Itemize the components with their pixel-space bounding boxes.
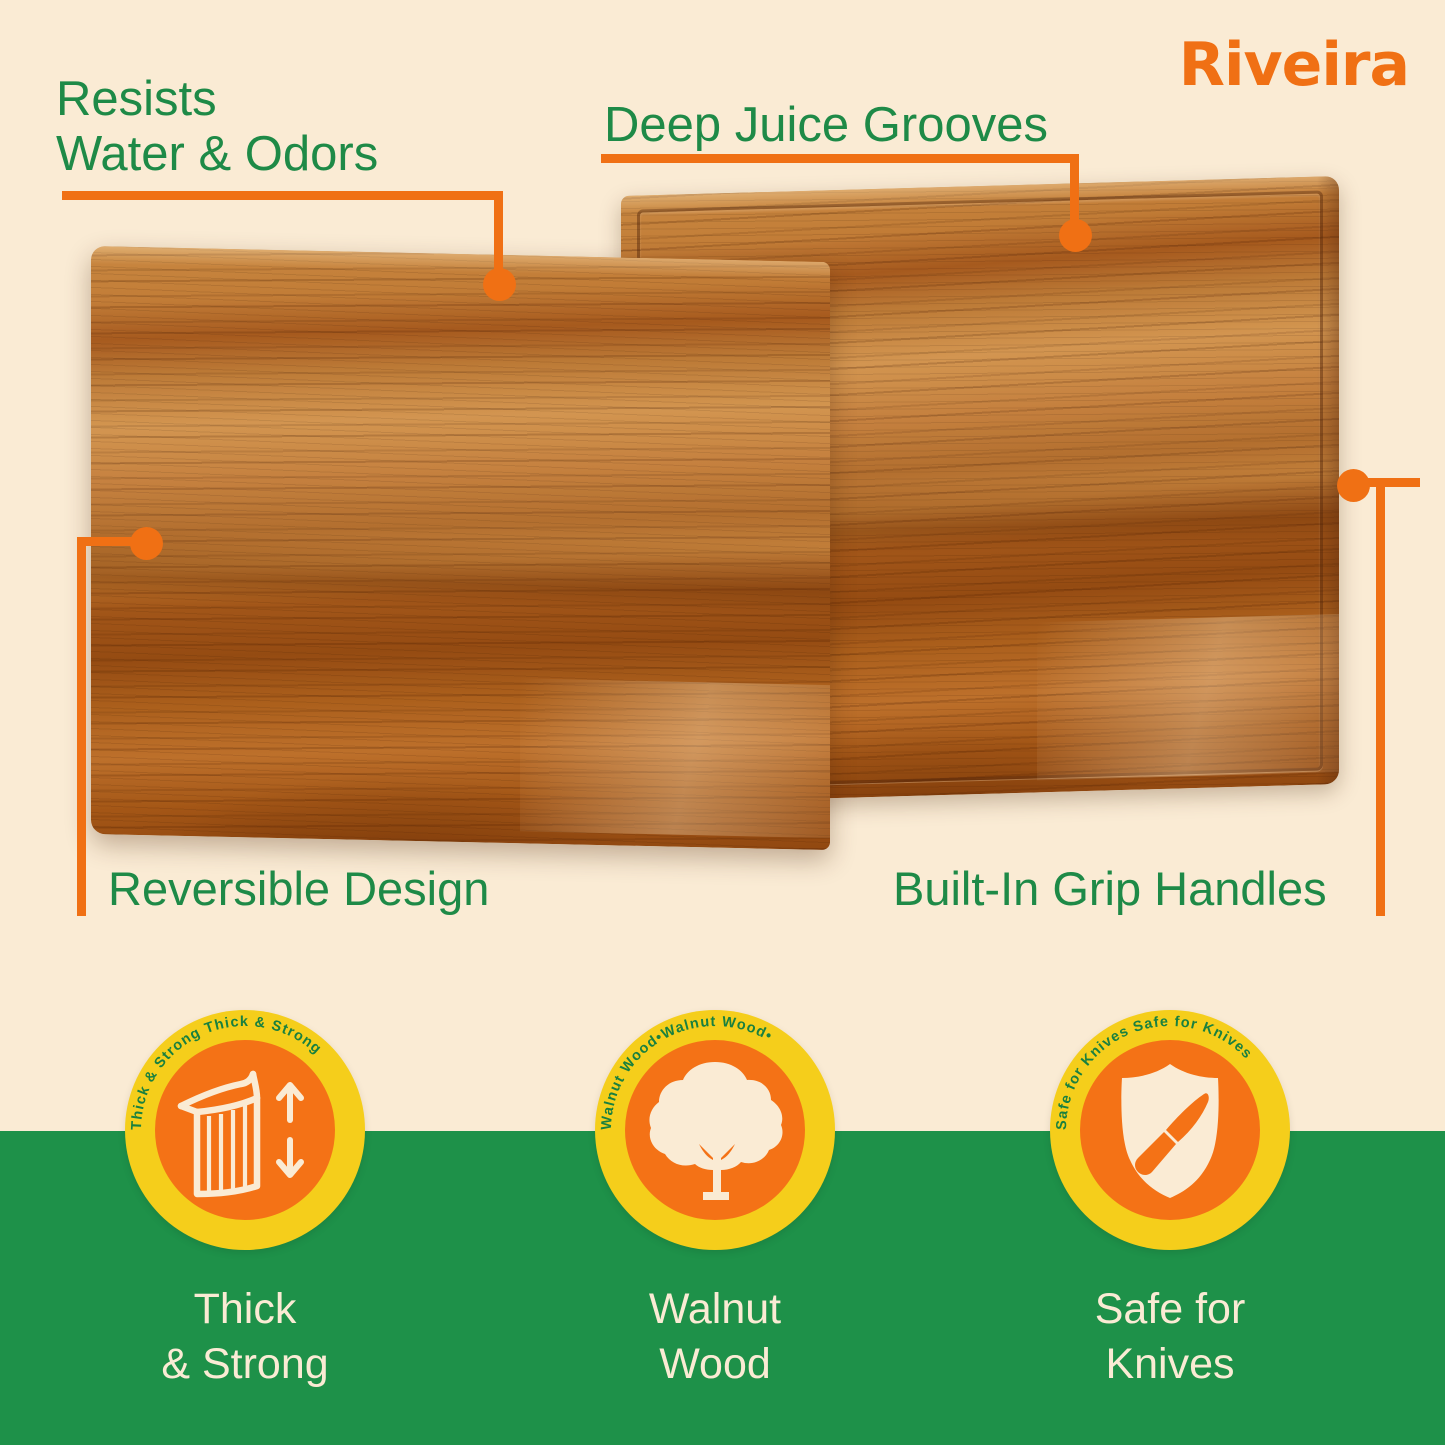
leader-line-vertical-water [494,191,503,279]
badge-thick-strong: Thick & Strong Thick & Strong [125,1010,365,1250]
badge-safe-for-knives: Safe for Knives Safe for Knives [1050,1010,1290,1250]
board-sheen-highlight [520,679,830,839]
shield-knife-icon [1080,1040,1260,1220]
leader-dot-grooves [1059,219,1092,252]
badge-caption-thick-strong: Thick & Strong [85,1282,405,1392]
badge-caption-safe-for-knives: Safe for Knives [1010,1282,1330,1392]
brand-logo: Riveira [1179,30,1409,100]
tree-icon [625,1040,805,1220]
infographic-canvas: Riveira Resists Water & Odors Deep Juice… [0,0,1445,1445]
leader-line-vertical-grip [1376,478,1385,916]
badge-caption-walnut-wood: Walnut Wood [555,1282,875,1392]
leader-dot-water [483,268,516,301]
leader-line-horizontal-water [62,191,503,200]
board-sheen-highlight [1037,614,1339,781]
callout-label-resists-water-odors: Resists Water & Odors [56,72,378,183]
callout-label-reversible-design: Reversible Design [108,862,489,915]
leader-dot-reversible [130,527,163,560]
leader-line-horizontal-grip [1362,478,1420,487]
callout-label-deep-juice-grooves: Deep Juice Grooves [604,98,1048,153]
leader-line-horizontal-grooves [601,154,1078,163]
cutting-board-front [91,246,830,850]
badge-walnut-wood: Walnut Wood•Walnut Wood• [595,1010,835,1250]
board-thickness-arrows-icon [155,1040,335,1220]
leader-dot-grip [1337,469,1370,502]
leader-line-vertical-reversible [77,537,86,916]
callout-label-built-in-grip-handles: Built-In Grip Handles [893,862,1327,915]
